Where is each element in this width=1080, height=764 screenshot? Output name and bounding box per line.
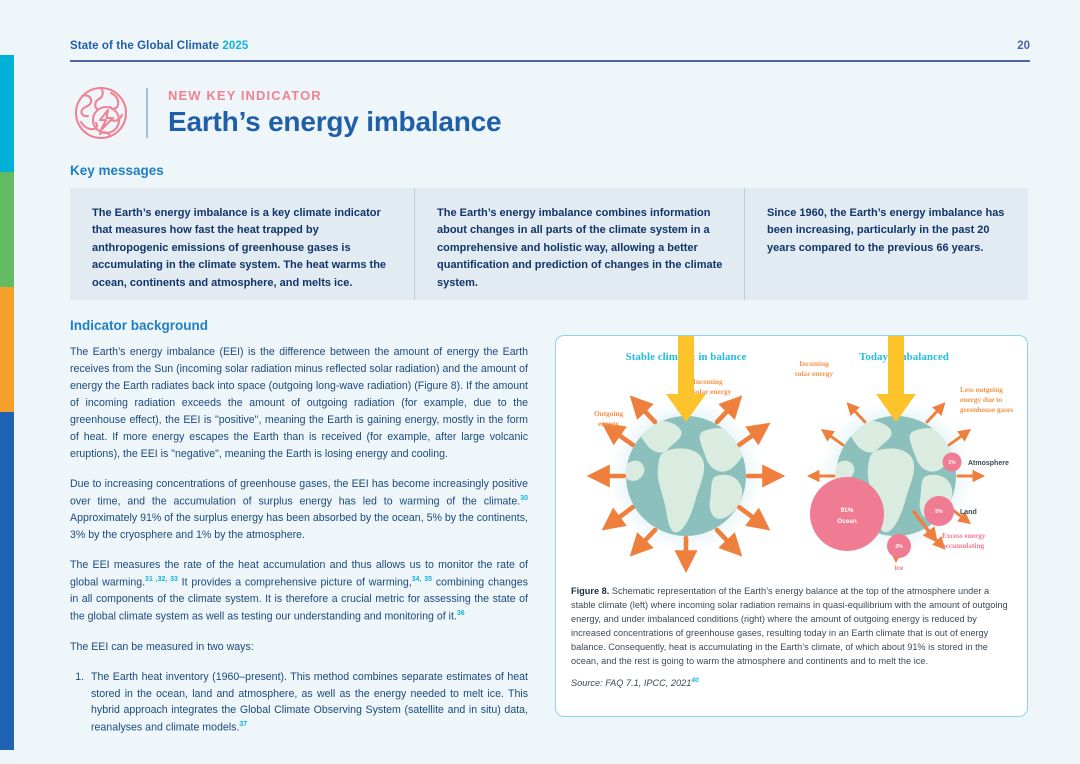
key-messages-box: The Earth’s energy imbalance is a key cl… — [70, 188, 1028, 300]
bubble-ocean: 91% Ocean — [810, 477, 884, 551]
footnote-ref-37[interactable]: 37 — [239, 721, 247, 728]
key-messages-heading: Key messages — [70, 163, 164, 178]
running-head-rule — [70, 60, 1030, 62]
footnote-ref-34-35[interactable]: 34, 35 — [412, 576, 432, 583]
footnote-ref-31-32-33[interactable]: 31 ,32, 33 — [145, 576, 178, 583]
paragraph-3-part-b: It provides a comprehensive picture of w… — [178, 576, 412, 588]
running-head-title-text: State of the Global Climate — [70, 40, 222, 52]
bubble-land-label: Land — [960, 509, 977, 516]
bubble-ice: 3% Ice — [887, 534, 911, 572]
figure-caption-text: Schematic representation of the Earth’s … — [571, 586, 1008, 666]
less-outgoing-line1: Less outgoing — [960, 385, 1003, 394]
figure-panel: Stable climate: in balance Today: imbala… — [555, 335, 1028, 717]
title-text: NEW KEY INDICATOR Earth’s energy imbalan… — [168, 88, 501, 138]
key-message-3: Since 1960, the Earth’s energy imbalance… — [744, 188, 1028, 300]
bubble-land-value: 5% — [935, 509, 943, 515]
bubble-ice-label: Ice — [895, 565, 904, 572]
figure-source: Source: FAQ 7.1, IPCC, 202140 — [571, 676, 1013, 690]
paragraph-1: The Earth’s energy imbalance (EEI) is th… — [70, 344, 528, 463]
edge-color-bar — [0, 0, 14, 764]
figure-illustration: Stable climate: in balance Today: imbala… — [556, 336, 1026, 581]
measurement-methods-list: The Earth heat inventory (1960–present).… — [70, 669, 528, 737]
less-outgoing-line3: greenhouse gases — [960, 405, 1013, 414]
edge-seg-white — [0, 0, 14, 55]
paragraph-2: Due to increasing concentrations of gree… — [70, 476, 528, 544]
key-message-2: The Earth’s energy imbalance combines in… — [414, 188, 744, 300]
title-divider — [146, 88, 148, 138]
incoming-label-right-line2: solar energy — [795, 369, 834, 378]
figure-source-text: Source: FAQ 7.1, IPCC, 2021 — [571, 679, 691, 689]
footnote-ref-36[interactable]: 36 — [457, 610, 465, 617]
running-head-year: 2025 — [222, 40, 248, 52]
footnote-ref-40[interactable]: 40 — [691, 677, 698, 684]
indicator-title-block: NEW KEY INDICATOR Earth’s energy imbalan… — [70, 82, 501, 144]
incoming-label-right-line1: Incoming — [799, 359, 829, 368]
list-item-1-text: The Earth heat inventory (1960–present).… — [91, 671, 528, 734]
paragraph-2-part-b: Approximately 91% of the surplus energy … — [70, 512, 528, 541]
title-eyebrow: NEW KEY INDICATOR — [168, 88, 501, 103]
bubble-ocean-label: Ocean — [837, 518, 857, 525]
running-head-title: State of the Global Climate 2025 — [70, 40, 248, 52]
edge-seg-green — [0, 172, 14, 287]
excess-energy-line2: accumulating — [942, 541, 985, 550]
list-item: The Earth heat inventory (1960–present).… — [87, 669, 528, 737]
figure-caption-label: Figure 8. — [571, 586, 609, 596]
outgoing-label-left-line1: Outgoing — [594, 409, 624, 418]
incoming-label-left-line2: solar energy — [693, 387, 732, 396]
edge-seg-blue — [0, 412, 14, 750]
excess-energy-line1: Excess energy — [942, 531, 986, 540]
paragraph-2-part-a: Due to increasing concentrations of gree… — [70, 478, 528, 507]
bubble-ocean-value: 91% — [841, 507, 854, 514]
less-outgoing-line2: energy due to — [960, 395, 1003, 404]
bubble-atmosphere-value: 1% — [948, 460, 956, 466]
key-message-1: The Earth’s energy imbalance is a key cl… — [70, 188, 414, 300]
running-head: State of the Global Climate 2025 20 — [70, 38, 1030, 64]
page-sheet: State of the Global Climate 2025 20 NEW … — [14, 0, 1080, 764]
outgoing-label-left-line2: energy — [598, 419, 619, 428]
bubble-atmosphere: 1% Atmosphere — [943, 453, 1009, 472]
paragraph-4: The EEI can be measured in two ways: — [70, 639, 528, 656]
bubble-ice-value: 3% — [895, 544, 903, 550]
incoming-label-left-line1: Incoming — [693, 377, 723, 386]
globe-imbalanced: Incoming solar energy Less outgoing ener… — [795, 336, 1013, 572]
edge-seg-orange — [0, 287, 14, 412]
globe-stable: Incoming solar energy Outgoing energy — [594, 336, 776, 564]
indicator-background-body: The Earth’s energy imbalance (EEI) is th… — [70, 344, 528, 737]
footnote-ref-30[interactable]: 30 — [520, 495, 528, 502]
edge-seg-cyan — [0, 55, 14, 172]
globe-lightning-icon — [70, 82, 132, 144]
bubble-atmosphere-label: Atmosphere — [968, 460, 1009, 467]
paragraph-3: The EEI measures the rate of the heat ac… — [70, 557, 528, 626]
figure-caption: Figure 8. Schematic representation of th… — [571, 584, 1013, 691]
page-title: Earth’s energy imbalance — [168, 106, 501, 138]
page-number: 20 — [1017, 40, 1030, 52]
indicator-background-heading: Indicator background — [70, 318, 208, 333]
